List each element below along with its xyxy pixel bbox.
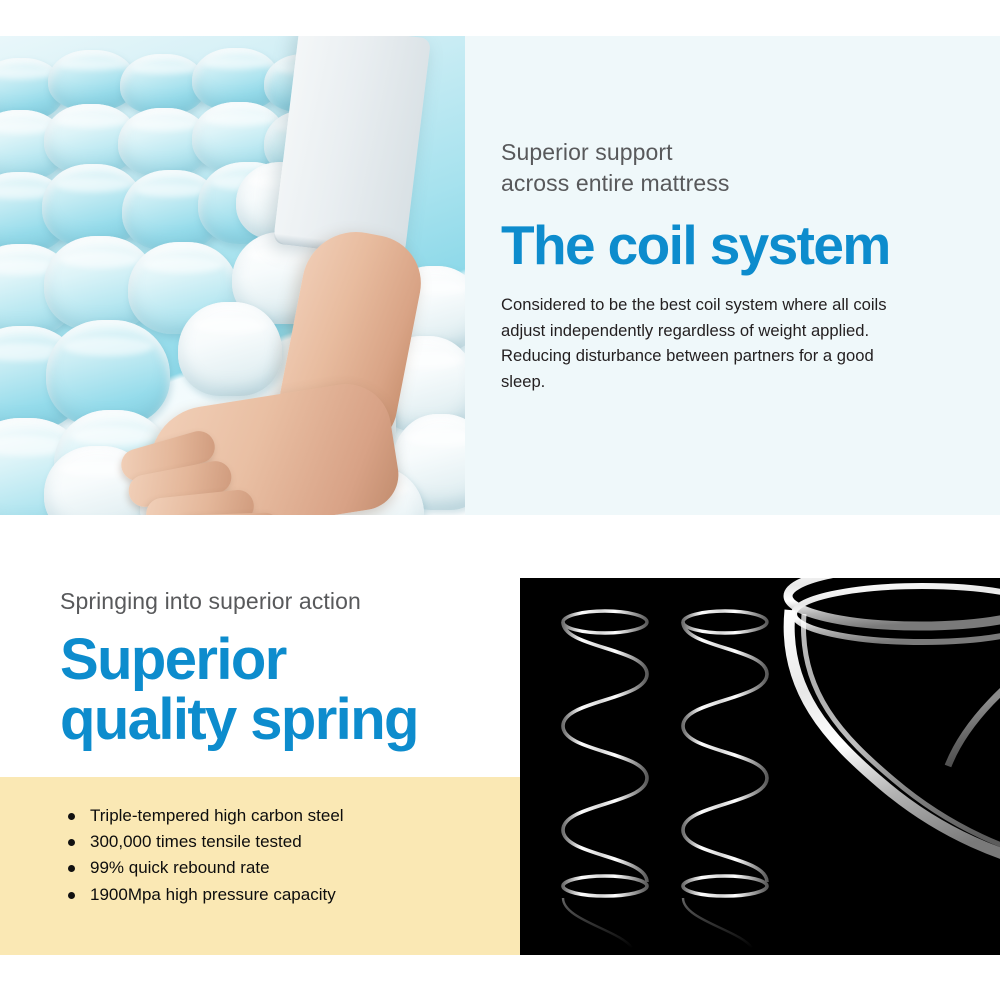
mattress-pocket-springs-photo [0,36,465,515]
infographic-canvas: Superior support across entire mattress … [0,0,1000,1000]
bottom-eyebrow-text: Springing into superior action [60,586,361,617]
top-eyebrow-text: Superior support across entire mattress [501,137,729,199]
top-body-text: Considered to be the best coil system wh… [501,292,901,394]
top-headline: The coil system [501,214,890,276]
list-item: Triple-tempered high carbon steel [62,803,344,829]
list-item: 99% quick rebound rate [62,855,344,881]
list-item: 1900Mpa high pressure capacity [62,882,344,908]
spring-feature-list: Triple-tempered high carbon steel 300,00… [62,803,344,908]
coil-springs-photo [520,578,1000,955]
spring-illustration [520,578,1000,955]
top-section: Superior support across entire mattress … [0,36,1000,515]
sleeve [273,36,431,259]
bottom-headline: Superior quality spring [60,630,418,750]
list-item: 300,000 times tensile tested [62,829,344,855]
